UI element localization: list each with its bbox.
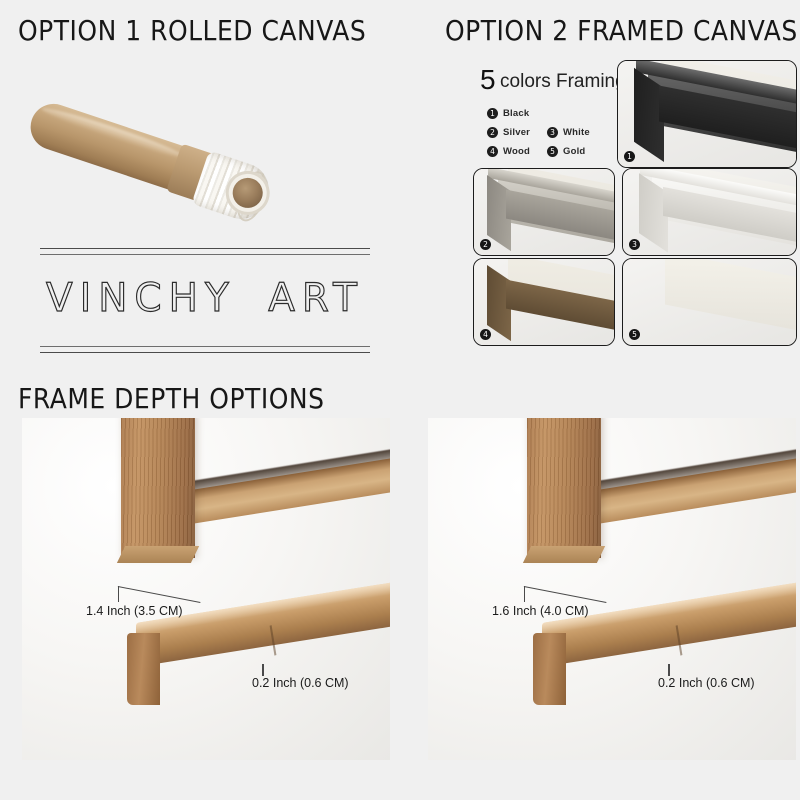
sample-badge-1: 1	[624, 151, 635, 162]
legend-bullet-5: 5	[547, 146, 558, 157]
frame-sample-black[interactable]: 1	[617, 60, 797, 168]
legend-item-gold: 5 Gold	[547, 146, 607, 157]
legend-label-5: Gold	[563, 146, 585, 157]
depth-dimension-label-2: 1.6 Inch (4.0 CM)	[492, 604, 589, 618]
legend-item-black: 1 Black	[487, 108, 547, 119]
legend-label-2: Silver	[503, 127, 530, 138]
option2-title: OPTION 2 FRAMED CANVAS	[445, 14, 798, 46]
logo-rule-top-outer	[40, 248, 370, 249]
framing-caption: colors Framing	[500, 71, 626, 92]
infographic-canvas: OPTION 1 ROLLED CANVAS VINCHY ART OPTION…	[0, 0, 800, 800]
depth-dimension-label-1: 1.4 Inch (3.5 CM)	[86, 604, 183, 618]
lower-rail-end-cap	[533, 633, 566, 705]
legend-row: 1 Black	[487, 108, 607, 119]
frame-depth-photo-2	[428, 418, 796, 760]
frame-corner-render	[474, 259, 614, 345]
sample-badge-5: 5	[629, 329, 640, 340]
frame-vertical-stile	[527, 418, 601, 558]
frame-color-legend: 1 Black 2 Silver 3 White 4 Wood 5 Gold	[487, 108, 607, 165]
stile-bottom-face	[117, 546, 200, 563]
frame-corner-render	[623, 169, 796, 255]
sample-badge-4: 4	[480, 329, 491, 340]
legend-label-1: Black	[503, 108, 529, 119]
frame-corner-render	[474, 169, 614, 255]
logo-rule-top-inner	[40, 254, 370, 255]
depth-leader-left	[118, 586, 119, 602]
sample-badge-2: 2	[480, 239, 491, 250]
brand-logo: VINCHY ART	[40, 248, 370, 354]
framing-heading: 5 colors Framing	[480, 64, 626, 96]
legend-bullet-2: 2	[487, 127, 498, 138]
frame-depth-photo-1	[22, 418, 390, 760]
legend-row: 2 Silver 3 White	[487, 127, 607, 138]
thickness-tick-left	[262, 664, 264, 676]
sample-badge-3: 3	[629, 239, 640, 250]
brand-name-secondary: ART	[268, 276, 364, 321]
option1-title: OPTION 1 ROLLED CANVAS	[18, 14, 366, 46]
lower-rail-end-cap	[127, 633, 160, 705]
legend-label-4: Wood	[503, 146, 530, 157]
legend-item-white: 3 White	[547, 127, 607, 138]
legend-item-silver: 2 Silver	[487, 127, 547, 138]
legend-bullet-1: 1	[487, 108, 498, 119]
rolled-canvas-illustration	[28, 70, 298, 195]
legend-label-3: White	[563, 127, 590, 138]
frame-sample-silver[interactable]: 2	[473, 168, 615, 256]
canvas-tube-icon	[11, 79, 283, 263]
thickness-tick-right	[668, 664, 670, 676]
logo-rule-bottom-inner	[40, 346, 370, 347]
logo-rule-bottom-outer	[40, 352, 370, 353]
legend-bullet-4: 4	[487, 146, 498, 157]
legend-row: 4 Wood 5 Gold	[487, 146, 607, 157]
legend-bullet-3: 3	[547, 127, 558, 138]
brand-wordmark: VINCHY ART	[40, 276, 370, 321]
frame-corner-render	[623, 259, 796, 345]
stile-bottom-face	[523, 546, 606, 563]
thickness-dimension-label-2: 0.2 Inch (0.6 CM)	[658, 676, 755, 690]
depth-leader-right	[524, 586, 525, 602]
legend-item-wood: 4 Wood	[487, 146, 547, 157]
frame-corner-render	[618, 61, 796, 167]
frame-sample-wood[interactable]: 4	[473, 258, 615, 346]
brand-name-primary: VINCHY	[46, 276, 236, 321]
thickness-dimension-label-1: 0.2 Inch (0.6 CM)	[252, 676, 349, 690]
frame-vertical-stile	[121, 418, 195, 558]
frame-sample-gold[interactable]: 5	[622, 258, 797, 346]
frame-depth-title: FRAME DEPTH OPTIONS	[18, 382, 324, 414]
frame-sample-white[interactable]: 3	[622, 168, 797, 256]
framing-count: 5	[480, 64, 496, 95]
